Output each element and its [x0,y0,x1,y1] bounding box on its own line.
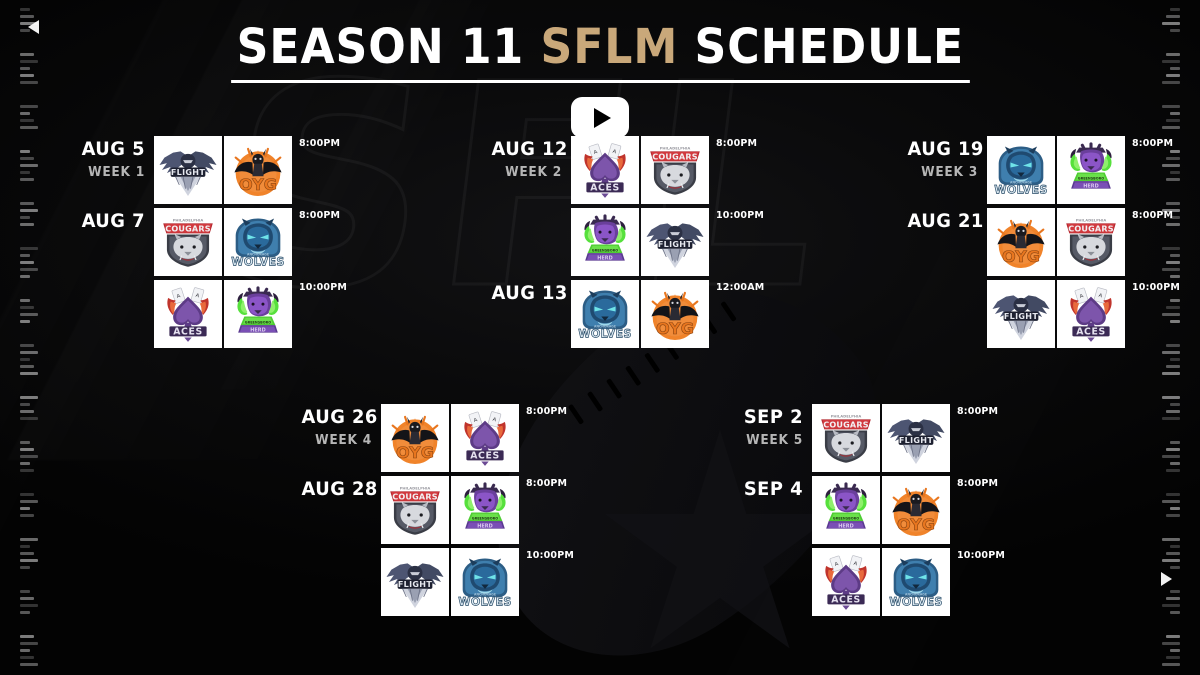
film-tick [1170,358,1180,361]
team-logo-wolves [571,280,639,348]
film-tick [20,351,38,354]
date-label: AUG 7 [75,212,146,231]
film-tick [1170,403,1180,406]
game-time: 10:00PM [1132,282,1180,293]
film-tick [20,164,38,167]
film-tick [20,538,38,541]
film-tick [20,150,30,153]
week-label: WEEK 1 [75,165,146,180]
game-time: 8:00PM [299,138,340,149]
play-triangle-icon [594,108,611,128]
date-label-group: SEP 4 [728,476,812,499]
team-logo-aces [154,280,222,348]
date-label-group: AUG 13 [487,280,571,303]
wolf-logo [454,551,516,613]
game-time: 8:00PM [957,406,998,417]
team-logo-bison [451,476,519,544]
film-tick [20,566,30,569]
film-tick [20,635,34,638]
film-tick [1162,455,1180,458]
cougar-logo [1060,211,1122,273]
team-logo-oyg [882,476,950,544]
team-logo-wolves [451,548,519,616]
date-label-group: AUG 21 [903,208,987,231]
film-tick [20,559,38,562]
date-label: AUG 12 [492,140,563,159]
film-tick [20,656,34,659]
game-slot: AUG 78:00PM [70,208,350,278]
eagle-logo [384,551,446,613]
film-tick [20,469,34,472]
team-logo-bison [571,208,639,276]
date-label-group [728,548,812,552]
team-logo-aces [812,548,880,616]
date-label: AUG 5 [75,140,146,159]
week-block: AUG 12WEEK 28:00PM10:00PMAUG 1312:00AM [487,136,767,350]
date-label: SEP 4 [733,480,804,499]
game-time: 8:00PM [1132,210,1173,221]
date-label-group: SEP 2WEEK 5 [728,404,812,448]
bison-logo [815,479,877,541]
game-slot: AUG 288:00PM [297,476,577,546]
game-slot: 10:00PM [728,548,1008,618]
film-tick [20,358,30,361]
date-label-group: AUG 19WEEK 3 [903,136,987,180]
matchup-row: 8:00PM [812,404,1000,474]
youtube-play-icon[interactable] [571,97,629,138]
game-slot: SEP 2WEEK 58:00PM [728,404,1008,474]
film-tick [1166,597,1180,600]
film-tick [1166,448,1180,451]
matchup-row: 8:00PM [154,136,342,206]
team-logo-flight [987,280,1055,348]
film-tick [20,306,34,309]
bison-logo [574,211,636,273]
week-label: WEEK 2 [492,165,563,180]
film-tick [20,597,34,600]
team-logo-cougars [154,208,222,276]
film-tick [1166,493,1180,496]
game-time: 8:00PM [299,210,340,221]
team-logo-aces [451,404,519,472]
cougar-logo [384,479,446,541]
matchup-row: 8:00PM [987,208,1175,278]
team-logo-oyg [641,280,709,348]
film-tick [20,649,30,652]
film-tick [20,500,38,503]
game-slot: SEP 48:00PM [728,476,1008,546]
date-label-group: AUG 12WEEK 2 [487,136,571,180]
film-tick [20,202,34,205]
ace-spade-logo [574,139,636,201]
game-time: 10:00PM [299,282,347,293]
matchup-row: 8:00PM [381,476,569,546]
film-tick [20,590,30,593]
game-time: 8:00PM [716,138,757,149]
film-tick [1162,604,1180,607]
film-tick [1162,559,1180,562]
matchup-row: 10:00PM [571,208,767,278]
week-block: AUG 19WEEK 38:00PMAUG 218:00PM10:00PM [903,136,1183,350]
eagle-logo [990,283,1052,345]
cougar-logo [815,407,877,469]
film-tick [20,268,38,271]
film-tick [20,171,30,174]
ace-spade-logo [157,283,219,345]
game-time: 8:00PM [526,478,567,489]
film-tick [1170,462,1180,465]
film-tick [1166,635,1180,638]
film-tick [1166,552,1180,555]
title-accent: SFLM [540,19,678,75]
film-tick [1170,566,1180,569]
eagle-logo [157,139,219,201]
film-tick [20,178,34,181]
film-tick [1170,611,1180,614]
film-tick [20,514,34,517]
matchup-row: 8:00PM [571,136,759,206]
game-slot: AUG 19WEEK 38:00PM [903,136,1183,206]
game-time: 8:00PM [526,406,567,417]
game-slot: AUG 26WEEK 48:00PM [297,404,577,474]
cougar-logo [157,211,219,273]
film-tick [20,493,34,496]
bison-logo [1060,139,1122,201]
team-logo-bison [224,280,292,348]
wolf-logo [227,211,289,273]
team-logo-bison [1057,136,1125,204]
film-tick [20,247,38,250]
team-logo-aces [571,136,639,204]
film-tick [20,552,34,555]
film-tick [20,223,34,226]
film-tick [20,209,38,212]
week-block: AUG 5WEEK 18:00PMAUG 78:00PM10:00PM [70,136,350,350]
bison-logo [227,283,289,345]
film-tick [20,448,34,451]
team-logo-flight [882,404,950,472]
team-logo-oyg [987,208,1055,276]
game-slot: AUG 218:00PM [903,208,1183,278]
team-logo-bison [812,476,880,544]
team-logo-wolves [987,136,1055,204]
game-slot: AUG 1312:00AM [487,280,767,350]
date-label: SEP 2 [733,408,804,427]
date-label-group [70,280,154,284]
game-slot: 10:00PM [487,208,767,278]
page-title: SEASON 11 SFLM SCHEDULE [231,22,969,83]
team-logo-aces [1057,280,1125,348]
film-tick [1162,538,1180,541]
date-label: AUG 13 [492,284,563,303]
matchup-row: 8:00PM [381,404,569,474]
film-tick [20,604,38,607]
game-time: 8:00PM [1132,138,1173,149]
team-logo-wolves [224,208,292,276]
week-label: WEEK 4 [302,433,373,448]
wolf-logo [990,139,1052,201]
game-time: 8:00PM [957,478,998,489]
week-block: SEP 2WEEK 58:00PMSEP 48:00PM10:00PM [728,404,1008,618]
film-tick [20,320,30,323]
date-label-group: AUG 28 [297,476,381,499]
date-label: AUG 19 [908,140,979,159]
film-tick [20,261,34,264]
film-tick [20,545,30,548]
game-time: 12:00AM [716,282,764,293]
game-slot: AUG 5WEEK 18:00PM [70,136,350,206]
date-label-group: AUG 5WEEK 1 [70,136,154,180]
date-label-group [487,208,571,212]
date-label: AUG 21 [908,212,979,231]
dragon-logo [644,283,706,345]
film-tick [20,611,30,614]
date-label: AUG 28 [302,480,373,499]
film-tick [1162,396,1180,399]
film-tick [20,417,38,420]
dragon-logo [384,407,446,469]
week-block: AUG 26WEEK 48:00PMAUG 288:00PM10:00PM [297,404,577,618]
team-logo-flight [381,548,449,616]
film-tick [1162,351,1180,354]
matchup-row: 10:00PM [381,548,577,618]
film-tick [1170,507,1180,510]
film-tick [1170,649,1180,652]
matchup-row: 12:00AM [571,280,767,350]
matchup-row: 10:00PM [987,280,1183,350]
date-label-group [297,548,381,552]
team-logo-cougars [812,404,880,472]
team-logo-oyg [381,404,449,472]
ace-spade-logo [815,551,877,613]
film-tick [20,403,30,406]
game-time: 10:00PM [716,210,764,221]
film-tick [1162,372,1180,375]
cougar-logo [644,139,706,201]
film-tick [20,663,38,666]
eagle-logo [885,407,947,469]
date-label: AUG 26 [302,408,373,427]
schedule-graphic: SFL SEASON 11 SFLM SCHEDULE AUG 5WEEK 18… [0,0,1200,675]
game-time: 10:00PM [526,550,574,561]
film-tick [20,372,38,375]
film-tick [20,396,38,399]
date-label-group: AUG 7 [70,208,154,231]
film-tick [1166,469,1180,472]
dragon-logo [227,139,289,201]
team-logo-cougars [381,476,449,544]
dragon-logo [990,211,1052,273]
film-tick [1166,514,1180,517]
date-label-group: AUG 26WEEK 4 [297,404,381,448]
ace-spade-logo [1060,283,1122,345]
week-label: WEEK 5 [733,433,804,448]
film-tick [20,216,30,219]
wolf-logo [885,551,947,613]
team-logo-flight [641,208,709,276]
game-slot: 10:00PM [903,280,1183,350]
film-tick [1166,410,1180,413]
team-logo-flight [154,136,222,204]
film-tick [1170,545,1180,548]
date-label-group [903,280,987,284]
film-tick [20,254,30,257]
team-logo-wolves [882,548,950,616]
film-tick [20,455,38,458]
team-logo-oyg [224,136,292,204]
game-slot: 10:00PM [297,548,577,618]
film-tick [1162,663,1180,666]
film-tick [20,344,34,347]
header: SEASON 11 SFLM SCHEDULE [0,0,1200,138]
film-tick [20,299,30,302]
matchup-row: 10:00PM [154,280,350,350]
film-tick [20,642,38,645]
film-tick [1162,417,1180,420]
film-tick [20,365,34,368]
bison-logo [454,479,516,541]
eagle-logo [644,211,706,273]
title-part-one: SEASON 11 [236,19,540,75]
film-tick [20,275,30,278]
film-tick [1170,441,1180,444]
film-tick [20,313,38,316]
game-time: 10:00PM [957,550,1005,561]
film-tick [20,462,30,465]
film-tick [1170,590,1180,593]
week-label: WEEK 3 [908,165,979,180]
wolf-logo [574,283,636,345]
game-slot: 10:00PM [70,280,350,350]
matchup-row: 8:00PM [154,208,342,278]
team-logo-cougars [641,136,709,204]
film-tick [1166,656,1180,659]
game-slot: AUG 12WEEK 28:00PM [487,136,767,206]
matchup-row: 8:00PM [987,136,1175,206]
title-part-two: SCHEDULE [678,19,964,75]
film-tick [20,507,30,510]
film-tick [20,410,34,413]
ace-spade-logo [454,407,516,469]
matchup-row: 10:00PM [812,548,1008,618]
film-tick [20,157,34,160]
matchup-row: 8:00PM [812,476,1000,546]
film-tick [1162,642,1180,645]
triangle-right-icon[interactable] [1161,572,1172,586]
dragon-logo [885,479,947,541]
team-logo-cougars [1057,208,1125,276]
film-tick [20,441,30,444]
film-tick [1162,500,1180,503]
film-tick [1166,365,1180,368]
